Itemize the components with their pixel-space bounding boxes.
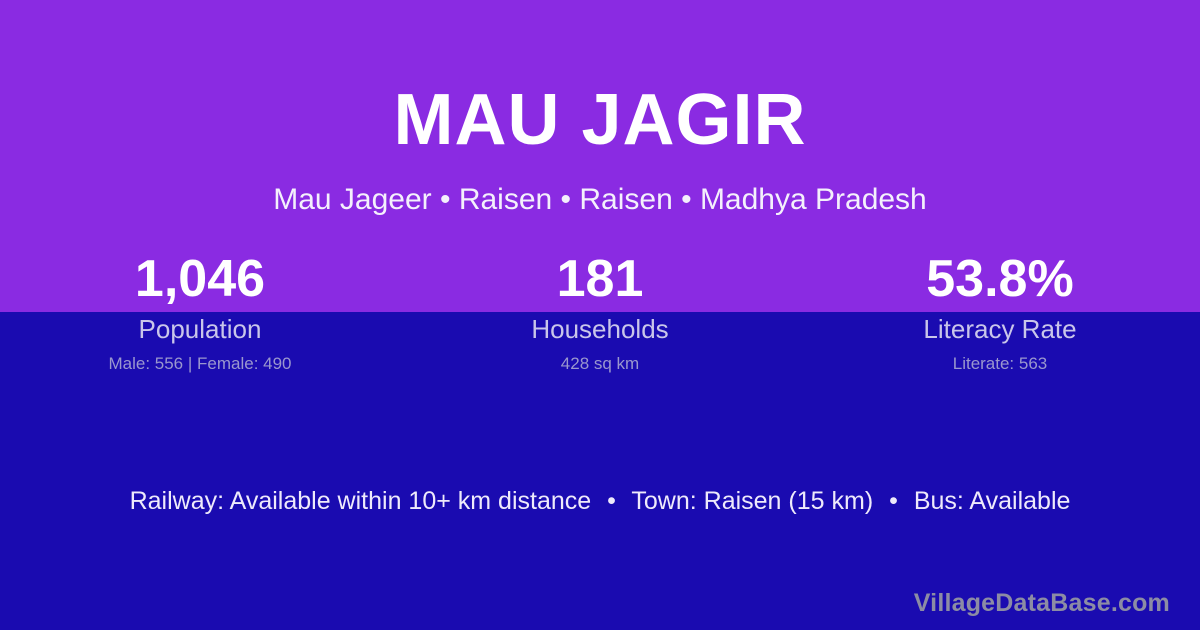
page-title: MAU JAGIR bbox=[0, 84, 1200, 156]
stat-label: Literacy Rate bbox=[800, 312, 1200, 346]
stat-population: 1,046 Population Male: 556 | Female: 490 bbox=[0, 246, 400, 377]
town-info: Town: Raisen (15 km) bbox=[631, 487, 873, 515]
location-breadcrumb: Mau Jageer • Raisen • Raisen • Madhya Pr… bbox=[0, 182, 1200, 218]
stat-literacy-rate: 53.8% Literacy Rate Literate: 563 bbox=[800, 246, 1200, 377]
village-info-card: MAU JAGIR Mau Jageer • Raisen • Raisen •… bbox=[0, 0, 1200, 630]
info-separator: • bbox=[880, 486, 907, 516]
stat-value: 1,046 bbox=[0, 246, 400, 312]
railway-info: Railway: Available within 10+ km distanc… bbox=[130, 487, 592, 515]
stat-households: 181 Households 428 sq km bbox=[400, 246, 800, 377]
stat-value: 53.8% bbox=[800, 246, 1200, 312]
transport-info-line: Railway: Available within 10+ km distanc… bbox=[0, 486, 1200, 516]
stat-value: 181 bbox=[400, 246, 800, 312]
stat-sub: Literate: 563 bbox=[800, 351, 1200, 377]
info-separator: • bbox=[598, 486, 625, 516]
stat-label: Population bbox=[0, 312, 400, 346]
bus-info: Bus: Available bbox=[914, 487, 1071, 515]
stats-row: 1,046 Population Male: 556 | Female: 490… bbox=[0, 246, 1200, 377]
stat-label: Households bbox=[400, 312, 800, 346]
site-brand: VillageDataBase.com bbox=[914, 588, 1170, 618]
stat-sub: Male: 556 | Female: 490 bbox=[0, 351, 400, 377]
stat-sub: 428 sq km bbox=[400, 351, 800, 377]
